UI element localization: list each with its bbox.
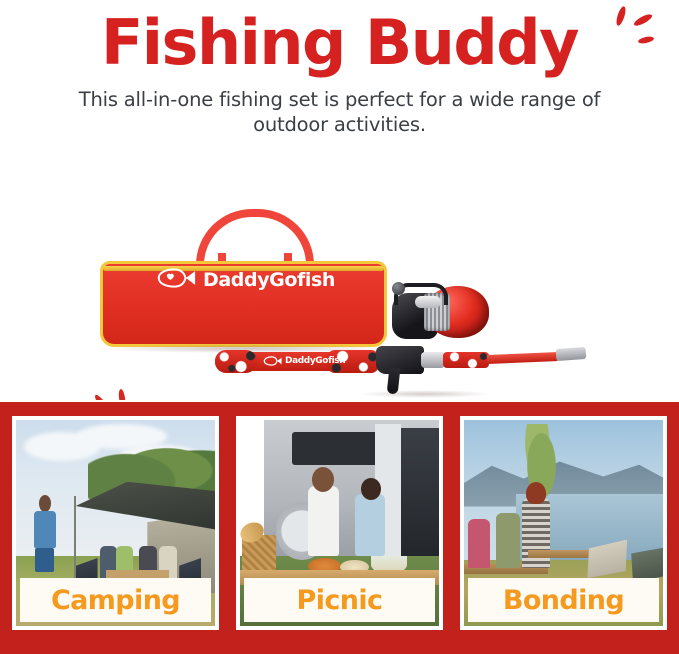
activity-label-picnic: Picnic [244, 578, 435, 622]
reel-shadow [360, 390, 490, 398]
reel-clip [415, 296, 441, 308]
rod-ferrule [421, 352, 445, 368]
activity-card-camping[interactable]: Camping [12, 416, 219, 630]
rod-camo-butt [215, 350, 257, 373]
rod-tip-guides [556, 347, 587, 361]
rod-brand-label: DaddyGofish [285, 357, 345, 366]
activity-card-bonding[interactable]: Bonding [460, 416, 667, 630]
hero-product-section: DaddyGofish DaddyGofish [0, 150, 679, 398]
activity-card-list: Camping [12, 416, 667, 630]
activity-label-camping: Camping [20, 578, 211, 622]
rod-brand-logo: DaddyGofish [263, 355, 363, 368]
rod-camo-midsection [443, 352, 489, 368]
fish-heart-logo-icon [156, 268, 196, 293]
activities-showcase-panel: Camping [0, 400, 679, 654]
page-subtitle: This all-in-one fishing set is perfect f… [60, 88, 619, 138]
bag-brand-label: DaddyGofish [203, 271, 335, 290]
activity-card-picnic[interactable]: Picnic [236, 416, 443, 630]
starburst-icon [597, 6, 657, 64]
bag-brand-logo: DaddyGofish [156, 265, 336, 295]
rod-blank [487, 352, 559, 364]
fish-heart-logo-icon [263, 353, 282, 371]
header-section: Fishing Buddy This all-in-one fishing se… [0, 0, 679, 150]
activity-label-text: Bonding [503, 587, 624, 614]
activity-label-bonding: Bonding [468, 578, 659, 622]
reel-handle-knob [392, 282, 405, 295]
activity-label-text: Picnic [297, 587, 383, 614]
page-title-wrap: Fishing Buddy [0, 4, 679, 82]
page-title: Fishing Buddy [101, 12, 578, 74]
activity-label-text: Camping [51, 587, 180, 614]
